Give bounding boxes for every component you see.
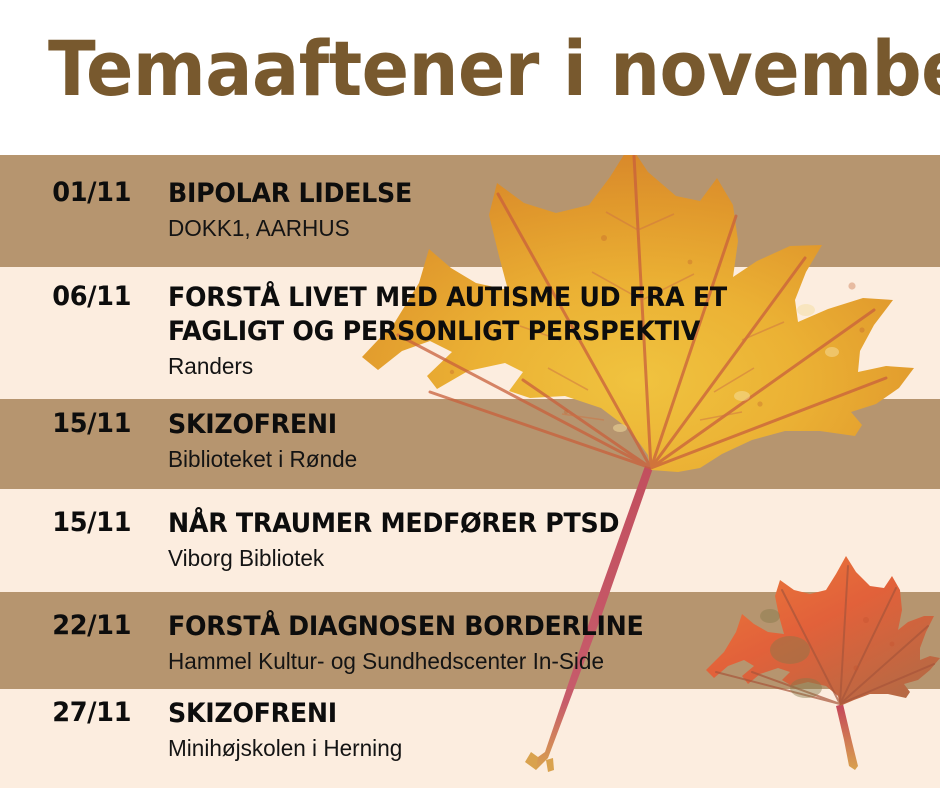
event-date: 06/11: [0, 281, 160, 312]
header-strip: Temaaftener i november: [0, 0, 940, 155]
event-title: SKIZOFRENI: [168, 408, 905, 442]
event-venue: Viborg Bibliotek: [168, 543, 925, 574]
list-item[interactable]: 22/11 FORSTÅ DIAGNOSEN BORDERLINE Hammel…: [0, 610, 940, 677]
event-date: 22/11: [0, 610, 160, 641]
event-venue: DOKK1, AARHUS: [168, 213, 925, 244]
list-item[interactable]: 01/11 BIPOLAR LIDELSE DOKK1, AARHUS: [0, 177, 940, 244]
list-item[interactable]: 15/11 SKIZOFRENI Biblioteket i Rønde: [0, 408, 940, 475]
poster-canvas: Temaaftener i november 01/11 BIPOLAR LID…: [0, 0, 940, 788]
event-body: FORSTÅ DIAGNOSEN BORDERLINE Hammel Kultu…: [168, 610, 940, 677]
event-title: NÅR TRAUMER MEDFØRER PTSD: [168, 507, 905, 541]
event-title: SKIZOFRENI: [168, 697, 905, 731]
event-body: FORSTÅ LIVET MED AUTISME UD FRA ET FAGLI…: [168, 281, 940, 382]
event-title-line-2: FAGLIGT OG PERSONLIGT PERSPEKTIV: [168, 315, 905, 349]
event-date: 15/11: [0, 507, 160, 538]
event-date: 01/11: [0, 177, 160, 208]
event-venue: Minihøjskolen i Herning: [168, 733, 925, 764]
event-body: NÅR TRAUMER MEDFØRER PTSD Viborg Bibliot…: [168, 507, 940, 574]
event-body: SKIZOFRENI Biblioteket i Rønde: [168, 408, 940, 475]
event-date: 27/11: [0, 697, 160, 728]
event-venue: Biblioteket i Rønde: [168, 444, 925, 475]
event-title: BIPOLAR LIDELSE: [168, 177, 905, 211]
event-venue: Randers: [168, 351, 925, 382]
list-item[interactable]: 27/11 SKIZOFRENI Minihøjskolen i Herning: [0, 697, 940, 764]
event-title: FORSTÅ LIVET MED AUTISME UD FRA ET: [168, 281, 905, 315]
event-venue: Hammel Kultur- og Sundhedscenter In-Side: [168, 646, 925, 677]
event-date: 15/11: [0, 408, 160, 439]
page-title: Temaaftener i november: [48, 26, 940, 112]
event-title: FORSTÅ DIAGNOSEN BORDERLINE: [168, 610, 905, 644]
event-body: BIPOLAR LIDELSE DOKK1, AARHUS: [168, 177, 940, 244]
event-body: SKIZOFRENI Minihøjskolen i Herning: [168, 697, 940, 764]
list-item[interactable]: 15/11 NÅR TRAUMER MEDFØRER PTSD Viborg B…: [0, 507, 940, 574]
list-item[interactable]: 06/11 FORSTÅ LIVET MED AUTISME UD FRA ET…: [0, 281, 940, 382]
